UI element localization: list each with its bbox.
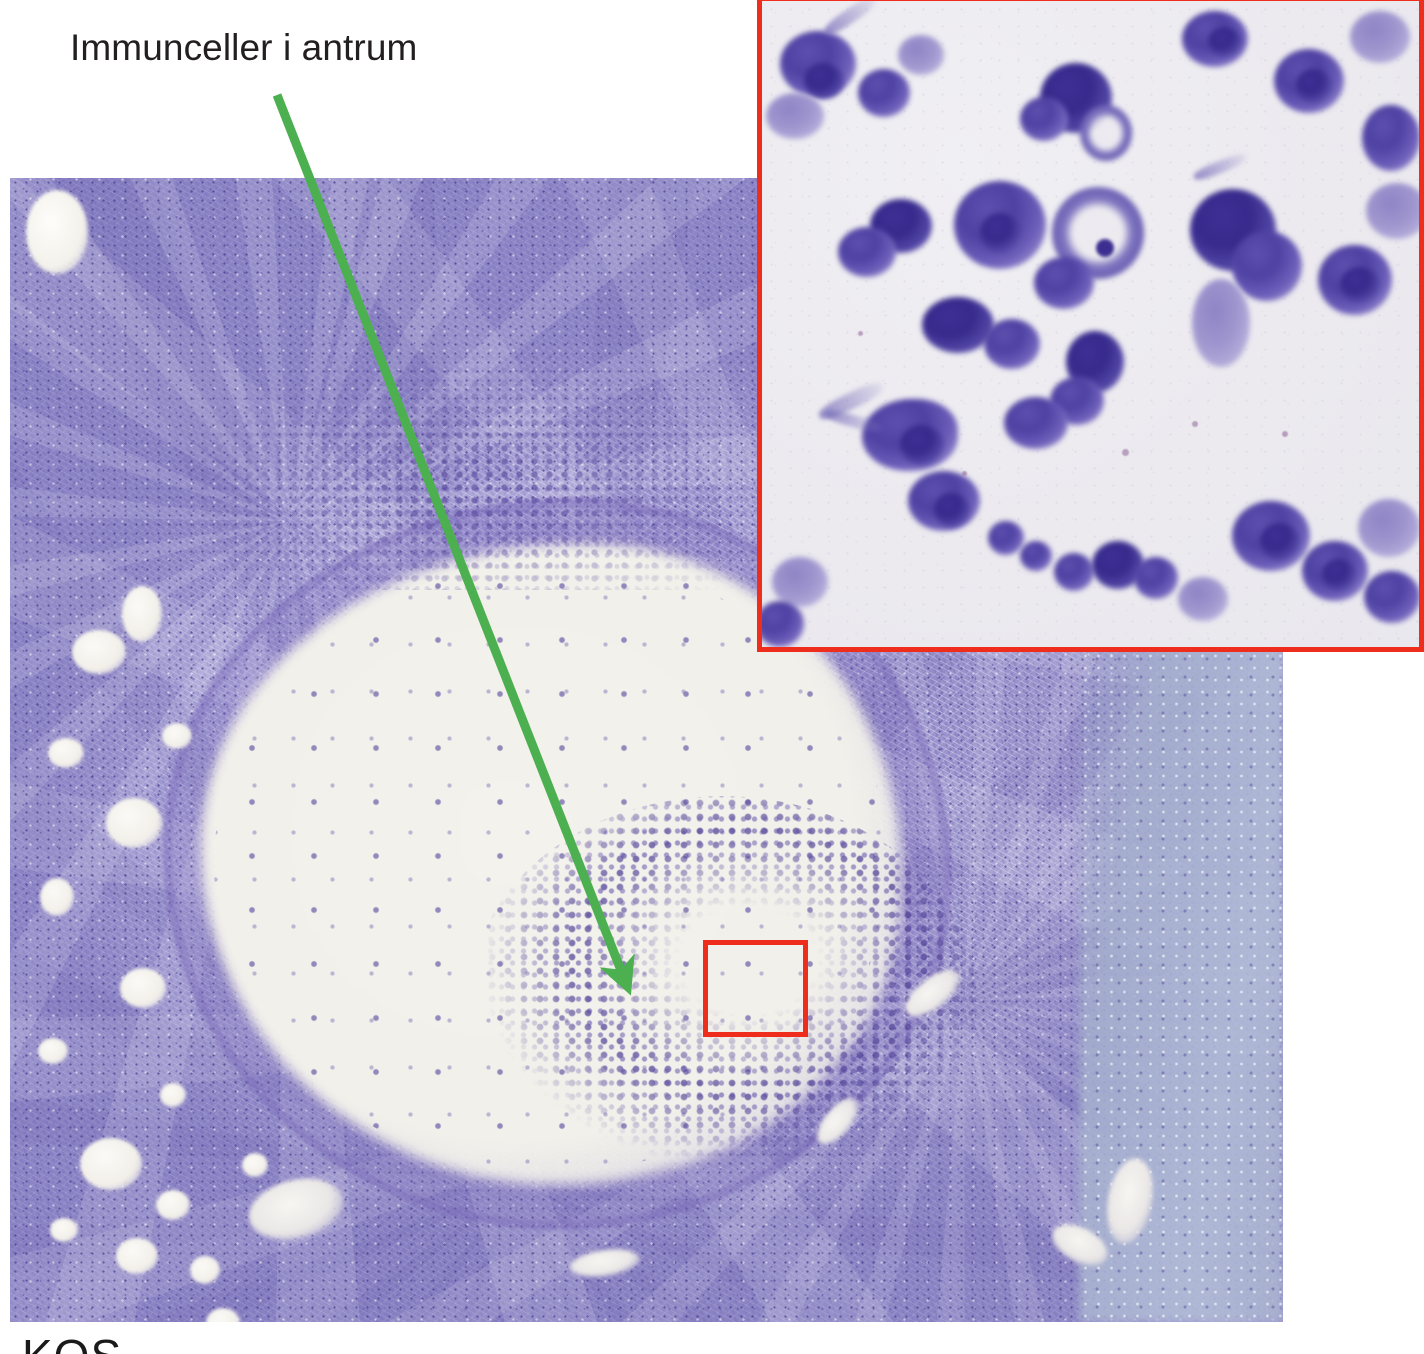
primordial-follicle [190, 1256, 220, 1284]
immune-cell-nucleus [1296, 69, 1332, 103]
primordial-follicle [162, 723, 192, 749]
page-title: Immunceller i antrum [70, 26, 417, 70]
region-of-interest-rectangle [703, 940, 808, 1037]
immune-cell [1232, 231, 1302, 301]
primordial-follicle [116, 1238, 158, 1274]
follicle-corner [26, 190, 88, 274]
immune-cell-nucleus [1322, 559, 1356, 591]
immune-cell-nucleus [980, 213, 1022, 253]
immune-cell [757, 601, 804, 647]
immune-cell [1178, 577, 1228, 621]
immune-cell [1192, 279, 1250, 367]
immune-cell [1054, 553, 1094, 591]
immune-cell-nucleus [934, 493, 970, 527]
primordial-follicle [242, 1153, 268, 1177]
immune-cell [898, 35, 944, 75]
immune-cell [988, 521, 1024, 555]
footer-label: KOS [22, 1330, 122, 1354]
immune-cell [1020, 541, 1052, 571]
primordial-follicle [156, 1190, 190, 1220]
immune-cell [1350, 11, 1410, 63]
stain-debris [1192, 421, 1198, 427]
immune-cell-nucleus [900, 425, 944, 465]
immune-cell-nucleus [1208, 27, 1242, 57]
immune-cell-cluster-upper [137, 247, 824, 590]
immune-cell [1364, 571, 1420, 623]
immune-cell-nucleus [1260, 523, 1300, 561]
immune-cell-vacuole [1080, 105, 1132, 161]
slide-canvas: Immunceller i antrum [0, 0, 1424, 1354]
primordial-follicle [48, 738, 84, 768]
primordial-follicle [50, 1218, 78, 1242]
primordial-follicle [80, 1138, 142, 1190]
immune-cell [1366, 183, 1424, 239]
immune-cell [772, 557, 828, 607]
immune-cell [858, 69, 910, 117]
immune-cell [984, 319, 1040, 369]
primordial-follicle [106, 798, 162, 848]
primordial-follicle [120, 968, 166, 1008]
primordial-follicle [122, 586, 162, 642]
stain-debris [1122, 449, 1129, 456]
primordial-follicle [38, 1038, 68, 1064]
immune-cell-nucleus [804, 63, 844, 99]
immune-cell [1004, 397, 1068, 449]
immune-cell-nucleus [1340, 267, 1380, 303]
immune-cell [766, 93, 824, 139]
immune-cell [1134, 557, 1178, 599]
primordial-follicle [160, 1083, 186, 1107]
primordial-follicle [40, 878, 74, 916]
immune-cell [1020, 97, 1068, 141]
stain-debris [962, 471, 967, 476]
immune-cell [1362, 105, 1420, 171]
immune-cell [838, 227, 896, 277]
immune-cell [1034, 257, 1094, 309]
primordial-follicle [72, 630, 126, 674]
stain-debris [1282, 431, 1288, 437]
immune-cell [1358, 499, 1420, 557]
immune-cell-nucleus [1096, 239, 1114, 257]
inset-magnified-image [757, 0, 1424, 652]
stain-debris [858, 331, 863, 336]
